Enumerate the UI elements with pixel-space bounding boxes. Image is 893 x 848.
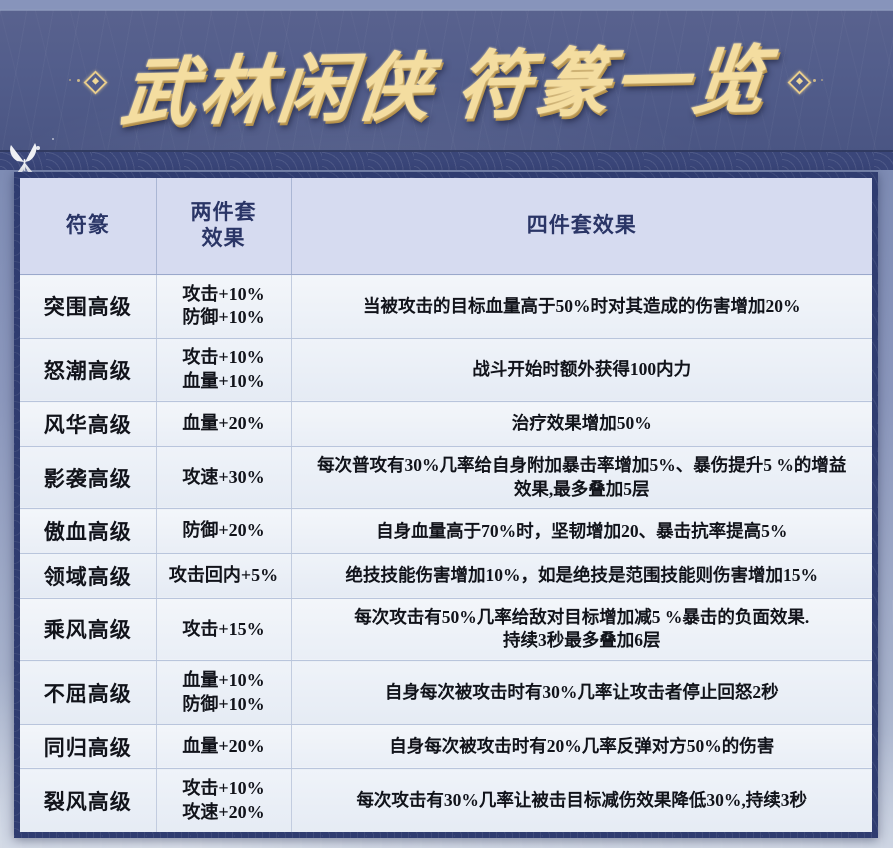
diamond-ornament-left-icon (61, 66, 105, 94)
four-piece-effect-cell: 战斗开始时额外获得100内力 (291, 338, 872, 402)
table-row: 突围高级攻击+10% 防御+10%当被攻击的目标血量高于50%时对其造成的伤害增… (20, 275, 872, 339)
page-root: 武林闲侠 符篆一览 符篆 两件套 效果 四件套效果 突围高级攻击+10% 防御+… (0, 0, 893, 848)
table-row: 裂风高级攻击+10% 攻速+20%每次攻击有30%几率让被击目标减伤效果降低30… (20, 769, 872, 832)
four-piece-effect-cell: 自身血量高于70%时，坚韧增加20、暴击抗率提高5% (291, 509, 872, 554)
column-header-two-piece: 两件套 效果 (156, 178, 291, 275)
rune-name-cell: 同归高级 (20, 724, 156, 769)
diamond-ornament-right-icon (788, 66, 832, 94)
two-piece-effect-cell: 攻击+10% 攻速+20% (156, 769, 291, 832)
two-piece-effect-cell: 攻速+30% (156, 446, 291, 509)
four-piece-effect-cell: 治疗效果增加50% (291, 402, 872, 447)
rune-name-cell: 影袭高级 (20, 446, 156, 509)
four-piece-effect-cell: 自身每次被攻击时有20%几率反弹对方50%的伤害 (291, 724, 872, 769)
sparkle-dot (36, 146, 40, 150)
rune-name-cell: 不屈高级 (20, 661, 156, 725)
four-piece-effect-cell: 每次普攻有30%几率给自身附加暴击率增加5%、暴伤提升5 %的增益 效果,最多叠… (291, 446, 872, 509)
two-piece-header-line2: 效果 (161, 226, 287, 252)
table-header-row: 符篆 两件套 效果 四件套效果 (20, 178, 872, 275)
banner-top-edge (0, 9, 893, 11)
wave-pattern-band (0, 152, 893, 170)
two-piece-effect-cell: 血量+20% (156, 724, 291, 769)
two-piece-effect-cell: 血量+10% 防御+10% (156, 661, 291, 725)
two-piece-effect-cell: 攻击+15% (156, 598, 291, 661)
rune-name-cell: 傲血高级 (20, 509, 156, 554)
four-piece-effect-cell: 绝技技能伤害增加10%，如是绝技是范围技能则伤害增加15% (291, 553, 872, 598)
four-piece-effect-cell: 自身每次被攻击时有30%几率让攻击者停止回怒2秒 (291, 661, 872, 725)
two-piece-effect-cell: 血量+20% (156, 402, 291, 447)
table-row: 风华高级血量+20%治疗效果增加50% (20, 402, 872, 447)
rune-name-cell: 裂风高级 (20, 769, 156, 832)
rune-name-cell: 风华高级 (20, 402, 156, 447)
rune-name-cell: 乘风高级 (20, 598, 156, 661)
two-piece-effect-cell: 攻击+10% 血量+10% (156, 338, 291, 402)
rune-table-frame: 符篆 两件套 效果 四件套效果 突围高级攻击+10% 防御+10%当被攻击的目标… (14, 172, 878, 838)
column-header-four-piece: 四件套效果 (291, 178, 872, 275)
rune-set-table: 符篆 两件套 效果 四件套效果 突围高级攻击+10% 防御+10%当被攻击的目标… (20, 178, 872, 832)
rune-name-cell: 领域高级 (20, 553, 156, 598)
rune-name-cell: 突围高级 (20, 275, 156, 339)
two-piece-effect-cell: 攻击+10% 防御+10% (156, 275, 291, 339)
rune-name-cell: 怒潮高级 (20, 338, 156, 402)
table-row: 傲血高级防御+20%自身血量高于70%时，坚韧增加20、暴击抗率提高5% (20, 509, 872, 554)
table-row: 怒潮高级攻击+10% 血量+10%战斗开始时额外获得100内力 (20, 338, 872, 402)
two-piece-effect-cell: 攻击回内+5% (156, 553, 291, 598)
four-piece-effect-cell: 每次攻击有50%几率给敌对目标增加减5 %暴击的负面效果. 持续3秒最多叠加6层 (291, 598, 872, 661)
column-header-rune: 符篆 (20, 178, 156, 275)
page-title: 武林闲侠 符篆一览 (117, 20, 776, 141)
four-piece-effect-cell: 每次攻击有30%几率让被击目标减伤效果降低30%,持续3秒 (291, 769, 872, 832)
table-body: 突围高级攻击+10% 防御+10%当被攻击的目标血量高于50%时对其造成的伤害增… (20, 275, 872, 833)
table-header: 符篆 两件套 效果 四件套效果 (20, 178, 872, 275)
title-bar: 武林闲侠 符篆一览 (0, 14, 893, 146)
table-row: 领域高级攻击回内+5%绝技技能伤害增加10%，如是绝技是范围技能则伤害增加15% (20, 553, 872, 598)
two-piece-header-line1: 两件套 (161, 200, 287, 226)
table-row: 影袭高级攻速+30%每次普攻有30%几率给自身附加暴击率增加5%、暴伤提升5 %… (20, 446, 872, 509)
table-row: 不屈高级血量+10% 防御+10%自身每次被攻击时有30%几率让攻击者停止回怒2… (20, 661, 872, 725)
four-piece-effect-cell: 当被攻击的目标血量高于50%时对其造成的伤害增加20% (291, 275, 872, 339)
two-piece-effect-cell: 防御+20% (156, 509, 291, 554)
table-row: 乘风高级攻击+15%每次攻击有50%几率给敌对目标增加减5 %暴击的负面效果. … (20, 598, 872, 661)
table-row: 同归高级血量+20%自身每次被攻击时有20%几率反弹对方50%的伤害 (20, 724, 872, 769)
